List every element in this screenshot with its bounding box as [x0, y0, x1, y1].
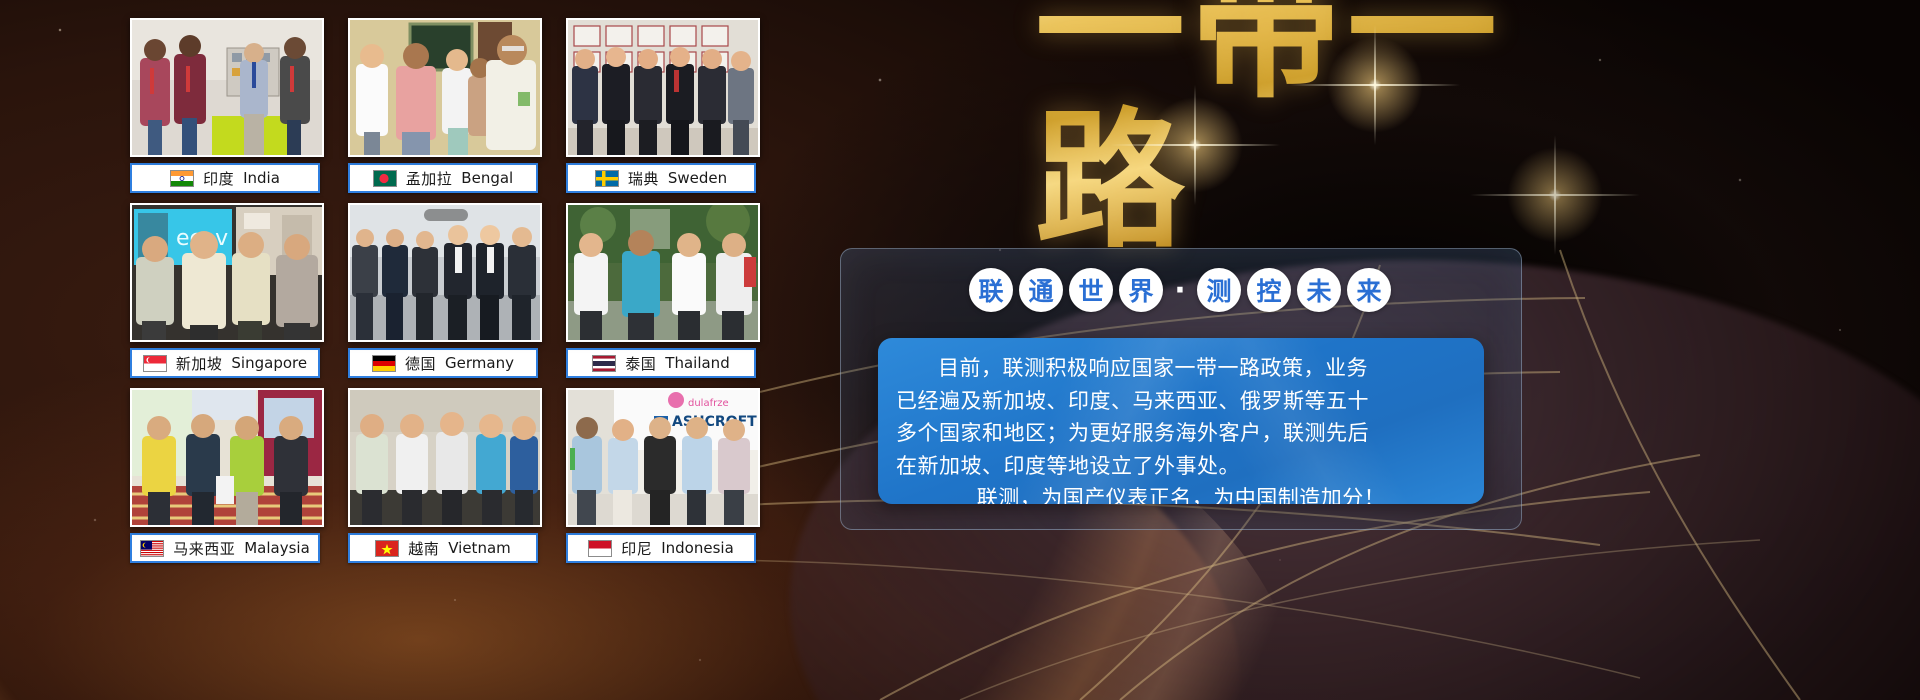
photo-card[interactable]: 越南 Vietnam	[348, 388, 538, 563]
photo-thumbnail	[348, 18, 542, 157]
photo-thumbnail: dulafrze ASHCROFT	[566, 388, 760, 527]
photo-card[interactable]: 马来西亚 Malaysia	[130, 388, 320, 563]
photo-caption: 新加坡 Singapore	[130, 348, 320, 378]
slogan-char-badge: 界	[1119, 268, 1163, 312]
photo-thumbnail	[348, 388, 542, 527]
slogan-char-badge: 来	[1347, 268, 1391, 312]
caption-en: Indonesia	[661, 539, 734, 557]
photo-card[interactable]: 印度 India	[130, 18, 320, 193]
flag-vietnam-icon	[375, 540, 399, 557]
caption-en: Malaysia	[244, 539, 310, 557]
photo-thumbnail	[348, 203, 542, 342]
photo-thumbnail	[130, 388, 324, 527]
description-line: 目前，联测积极响应国家一带一路政策，业务	[878, 338, 1484, 385]
description-box: 目前，联测积极响应国家一带一路政策，业务 已经遍及新加坡、印度、马来西亚、俄罗斯…	[878, 338, 1484, 504]
flag-malaysia-icon	[140, 540, 164, 557]
photo-card[interactable]: 德国 Germany	[348, 203, 538, 378]
photo-thumbnail	[130, 18, 324, 157]
photo-caption: 越南 Vietnam	[348, 533, 538, 563]
caption-en: Germany	[445, 354, 514, 372]
description-line: 已经遍及新加坡、印度、马来西亚、俄罗斯等五十	[878, 385, 1484, 418]
photo-thumbnail	[566, 18, 760, 157]
slogan-separator-dot: ·	[1169, 268, 1191, 312]
caption-cn: 马来西亚	[173, 538, 235, 559]
photo-caption: 泰国 Thailand	[566, 348, 756, 378]
photo-card[interactable]: ecev	[130, 203, 320, 378]
flag-india-icon	[170, 170, 194, 187]
slogan-char-badge: 世	[1069, 268, 1113, 312]
caption-en: India	[243, 169, 280, 187]
photo-thumbnail	[566, 203, 760, 342]
belt-and-road-calligraphy: 一带一路	[1035, 8, 1595, 203]
flag-indonesia-icon	[588, 540, 612, 557]
photo-caption: 瑞典 Sweden	[566, 163, 756, 193]
caption-en: Thailand	[665, 354, 729, 372]
caption-cn: 泰国	[625, 353, 656, 374]
caption-cn: 越南	[408, 538, 439, 559]
slogan-badges: 联 通 世 界 · 测 控 未 来	[955, 262, 1405, 318]
flag-thailand-icon	[592, 355, 616, 372]
photo-card[interactable]: 孟加拉 Bengal	[348, 18, 538, 193]
description-line: 在新加坡、印度等地设立了外事处。	[878, 450, 1484, 483]
sparkle-decoration	[1120, 70, 1270, 220]
sparkle-decoration	[1300, 10, 1450, 160]
caption-en: Bengal	[461, 169, 513, 187]
photo-card[interactable]: 瑞典 Sweden	[566, 18, 756, 193]
photo-caption: 马来西亚 Malaysia	[130, 533, 320, 563]
slogan-char-badge: 联	[969, 268, 1013, 312]
caption-en: Sweden	[668, 169, 727, 187]
caption-cn: 印尼	[621, 538, 652, 559]
flag-singapore-icon	[143, 355, 167, 372]
caption-cn: 德国	[405, 353, 436, 374]
photo-thumbnail: ecev	[130, 203, 324, 342]
caption-cn: 印度	[203, 168, 234, 189]
caption-en: Singapore	[231, 354, 307, 372]
caption-cn: 瑞典	[628, 168, 659, 189]
slogan-char-badge: 控	[1247, 268, 1291, 312]
flag-bangladesh-icon	[373, 170, 397, 187]
caption-cn: 新加坡	[176, 353, 223, 374]
flag-sweden-icon	[595, 170, 619, 187]
svg-text:dulafrze: dulafrze	[688, 398, 729, 409]
slogan-char-badge: 未	[1297, 268, 1341, 312]
slogan-char-badge: 测	[1197, 268, 1241, 312]
caption-cn: 孟加拉	[406, 168, 453, 189]
photo-card[interactable]: 泰国 Thailand	[566, 203, 756, 378]
description-line: 联测，为国产仪表正名，为中国制造加分！	[878, 482, 1484, 504]
photo-caption: 印度 India	[130, 163, 320, 193]
banner-stage: 印度 India	[0, 0, 1920, 700]
flag-germany-icon	[372, 355, 396, 372]
slogan-char-badge: 通	[1019, 268, 1063, 312]
photo-caption: 印尼 Indonesia	[566, 533, 756, 563]
calligraphy-text: 一带一路	[1035, 0, 1595, 256]
photo-caption: 德国 Germany	[348, 348, 538, 378]
caption-en: Vietnam	[448, 539, 511, 557]
description-line: 多个国家和地区；为更好服务海外客户，联测先后	[878, 417, 1484, 450]
photo-card[interactable]: dulafrze ASHCROFT	[566, 388, 756, 563]
photo-caption: 孟加拉 Bengal	[348, 163, 538, 193]
